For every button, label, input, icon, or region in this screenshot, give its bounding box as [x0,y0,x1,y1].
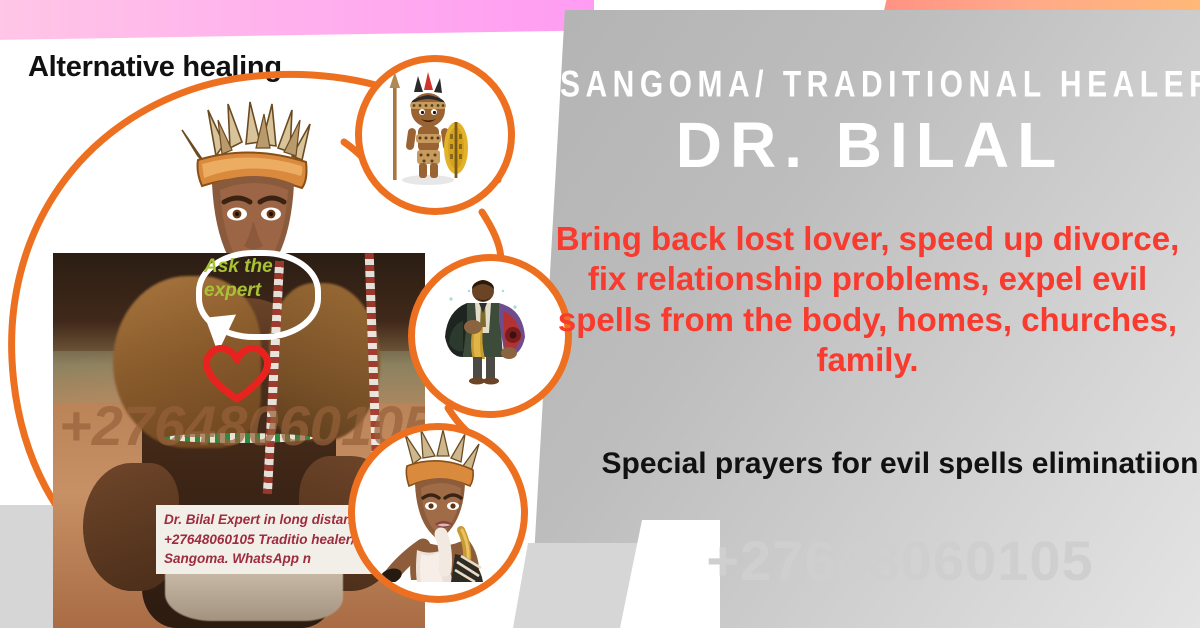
ghost-phone-number: +27648060105 [600,528,1200,593]
heart-icon [198,342,276,404]
gray-accent-block-left [0,505,54,628]
headline-text: DR. BILAL [560,108,1180,182]
robed-healer-icon [415,261,551,397]
special-prayers-paragraph: Special prayers for evil spells eliminat… [600,445,1200,483]
crouching-healer-icon [355,430,507,582]
poster-canvas: Alternative healing [0,0,1200,628]
circle-badge-zulu-warrior [355,55,515,215]
speech-bubble-text: Ask the expert [204,255,304,303]
zulu-warrior-icon [362,62,494,194]
kicker-text: SANGOMA/ TRADITIONAL HEALER [560,64,1180,107]
top-pink-bar [0,0,594,40]
services-paragraph: Bring back lost lover, speed up divorce,… [545,219,1190,380]
circle-badge-crouching-healer [348,423,528,603]
page-title: Alternative healing [28,51,282,84]
